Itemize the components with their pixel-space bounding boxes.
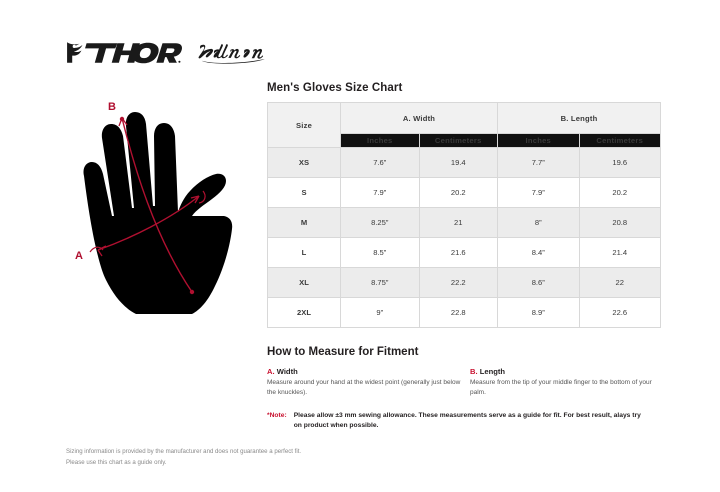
measure-item-width-heading: A. Width	[267, 367, 470, 376]
cell-length-centimeters: 21.4	[579, 238, 661, 268]
size-chart-table: Size A. Width B. Length Inches Centimete…	[267, 102, 661, 328]
measure-name-length: Length	[480, 367, 505, 376]
table-row: XL 8.75” 22.2 8.6” 22	[268, 268, 661, 298]
column-header-length-group: B. Length	[498, 103, 661, 134]
cell-width-inches: 7.6”	[341, 148, 420, 178]
table-row: XS 7.6” 19.4 7.7” 19.6	[268, 148, 661, 178]
footer-line-2: Please use this chart as a guide only.	[66, 458, 396, 469]
note-label: *Note:	[267, 411, 287, 431]
cell-length-inches: 7.9”	[498, 178, 580, 208]
cell-width-inches: 8.25”	[341, 208, 420, 238]
column-header-size: Size	[268, 103, 341, 148]
cell-width-centimeters: 20.2	[419, 178, 498, 208]
cell-length-centimeters: 20.8	[579, 208, 661, 238]
cell-size: L	[268, 238, 341, 268]
cell-size: XL	[268, 268, 341, 298]
column-header-width-centimeters: Centimeters	[419, 134, 498, 148]
hand-measurement-diagram: B A	[72, 96, 262, 318]
footer-line-1: Sizing information is provided by the ma…	[66, 447, 396, 458]
cell-length-inches: 7.7”	[498, 148, 580, 178]
measure-desc-length: Measure from the tip of your middle fing…	[470, 378, 657, 398]
cell-width-inches: 8.5”	[341, 238, 420, 268]
how-to-measure-title: How to Measure for Fitment	[267, 346, 657, 358]
cell-length-centimeters: 22	[579, 268, 661, 298]
cell-width-inches: 8.75”	[341, 268, 420, 298]
chart-column: Men's Gloves Size Chart Size A. Width B.…	[267, 82, 657, 431]
note-block: *Note: Please allow ±3 mm sewing allowan…	[267, 411, 657, 431]
cell-length-inches: 8.4”	[498, 238, 580, 268]
table-row: S 7.9” 20.2 7.9” 20.2	[268, 178, 661, 208]
measure-item-length: B. Length Measure from the tip of your m…	[470, 367, 657, 398]
diagram-label-b: B	[108, 101, 116, 113]
measure-item-length-heading: B. Length	[470, 367, 657, 376]
measure-item-width: A. Width Measure around your hand at the…	[267, 367, 470, 398]
cell-size: 2XL	[268, 298, 341, 328]
table-row: M 8.25” 21 8” 20.8	[268, 208, 661, 238]
cell-width-centimeters: 21	[419, 208, 498, 238]
diagram-label-a: A	[75, 250, 83, 262]
hand-silhouette	[83, 112, 232, 314]
hallman-logo	[196, 35, 282, 69]
size-chart-page: B A Men's Gloves Size Chart Size A. Widt…	[0, 0, 720, 492]
cell-size: M	[268, 208, 341, 238]
cell-size: S	[268, 178, 341, 208]
cell-width-centimeters: 21.6	[419, 238, 498, 268]
measure-desc-width: Measure around your hand at the widest p…	[267, 378, 470, 398]
column-header-width-group: A. Width	[341, 103, 498, 134]
cell-width-centimeters: 19.4	[419, 148, 498, 178]
note-text: Please allow ±3 mm sewing allowance. The…	[294, 411, 646, 431]
measure-letter-b: B.	[470, 367, 478, 376]
brand-logo-row	[64, 33, 282, 71]
page-title: Men's Gloves Size Chart	[267, 82, 657, 94]
cell-width-inches: 9”	[341, 298, 420, 328]
table-head-row-groups: Size A. Width B. Length	[268, 103, 661, 134]
cell-width-inches: 7.9”	[341, 178, 420, 208]
cell-width-centimeters: 22.8	[419, 298, 498, 328]
cell-width-centimeters: 22.2	[419, 268, 498, 298]
cell-length-centimeters: 22.6	[579, 298, 661, 328]
measure-name-width: Width	[277, 367, 298, 376]
cell-length-centimeters: 19.6	[579, 148, 661, 178]
thor-logo	[64, 35, 182, 69]
table-row: L 8.5” 21.6 8.4” 21.4	[268, 238, 661, 268]
column-header-width-inches: Inches	[341, 134, 420, 148]
cell-length-centimeters: 20.2	[579, 178, 661, 208]
how-to-measure-section: How to Measure for Fitment A. Width Meas…	[267, 346, 657, 431]
cell-length-inches: 8”	[498, 208, 580, 238]
measure-columns: A. Width Measure around your hand at the…	[267, 367, 657, 398]
footer-disclaimer: Sizing information is provided by the ma…	[66, 447, 396, 468]
measure-letter-a: A.	[267, 367, 275, 376]
table-row: 2XL 9” 22.8 8.9” 22.6	[268, 298, 661, 328]
column-header-length-inches: Inches	[498, 134, 580, 148]
table-head: Size A. Width B. Length Inches Centimete…	[268, 103, 661, 148]
cell-size: XS	[268, 148, 341, 178]
cell-length-inches: 8.6”	[498, 268, 580, 298]
column-header-length-centimeters: Centimeters	[579, 134, 661, 148]
table-body: XS 7.6” 19.4 7.7” 19.6 S 7.9” 20.2 7.9” …	[268, 148, 661, 328]
cell-length-inches: 8.9”	[498, 298, 580, 328]
